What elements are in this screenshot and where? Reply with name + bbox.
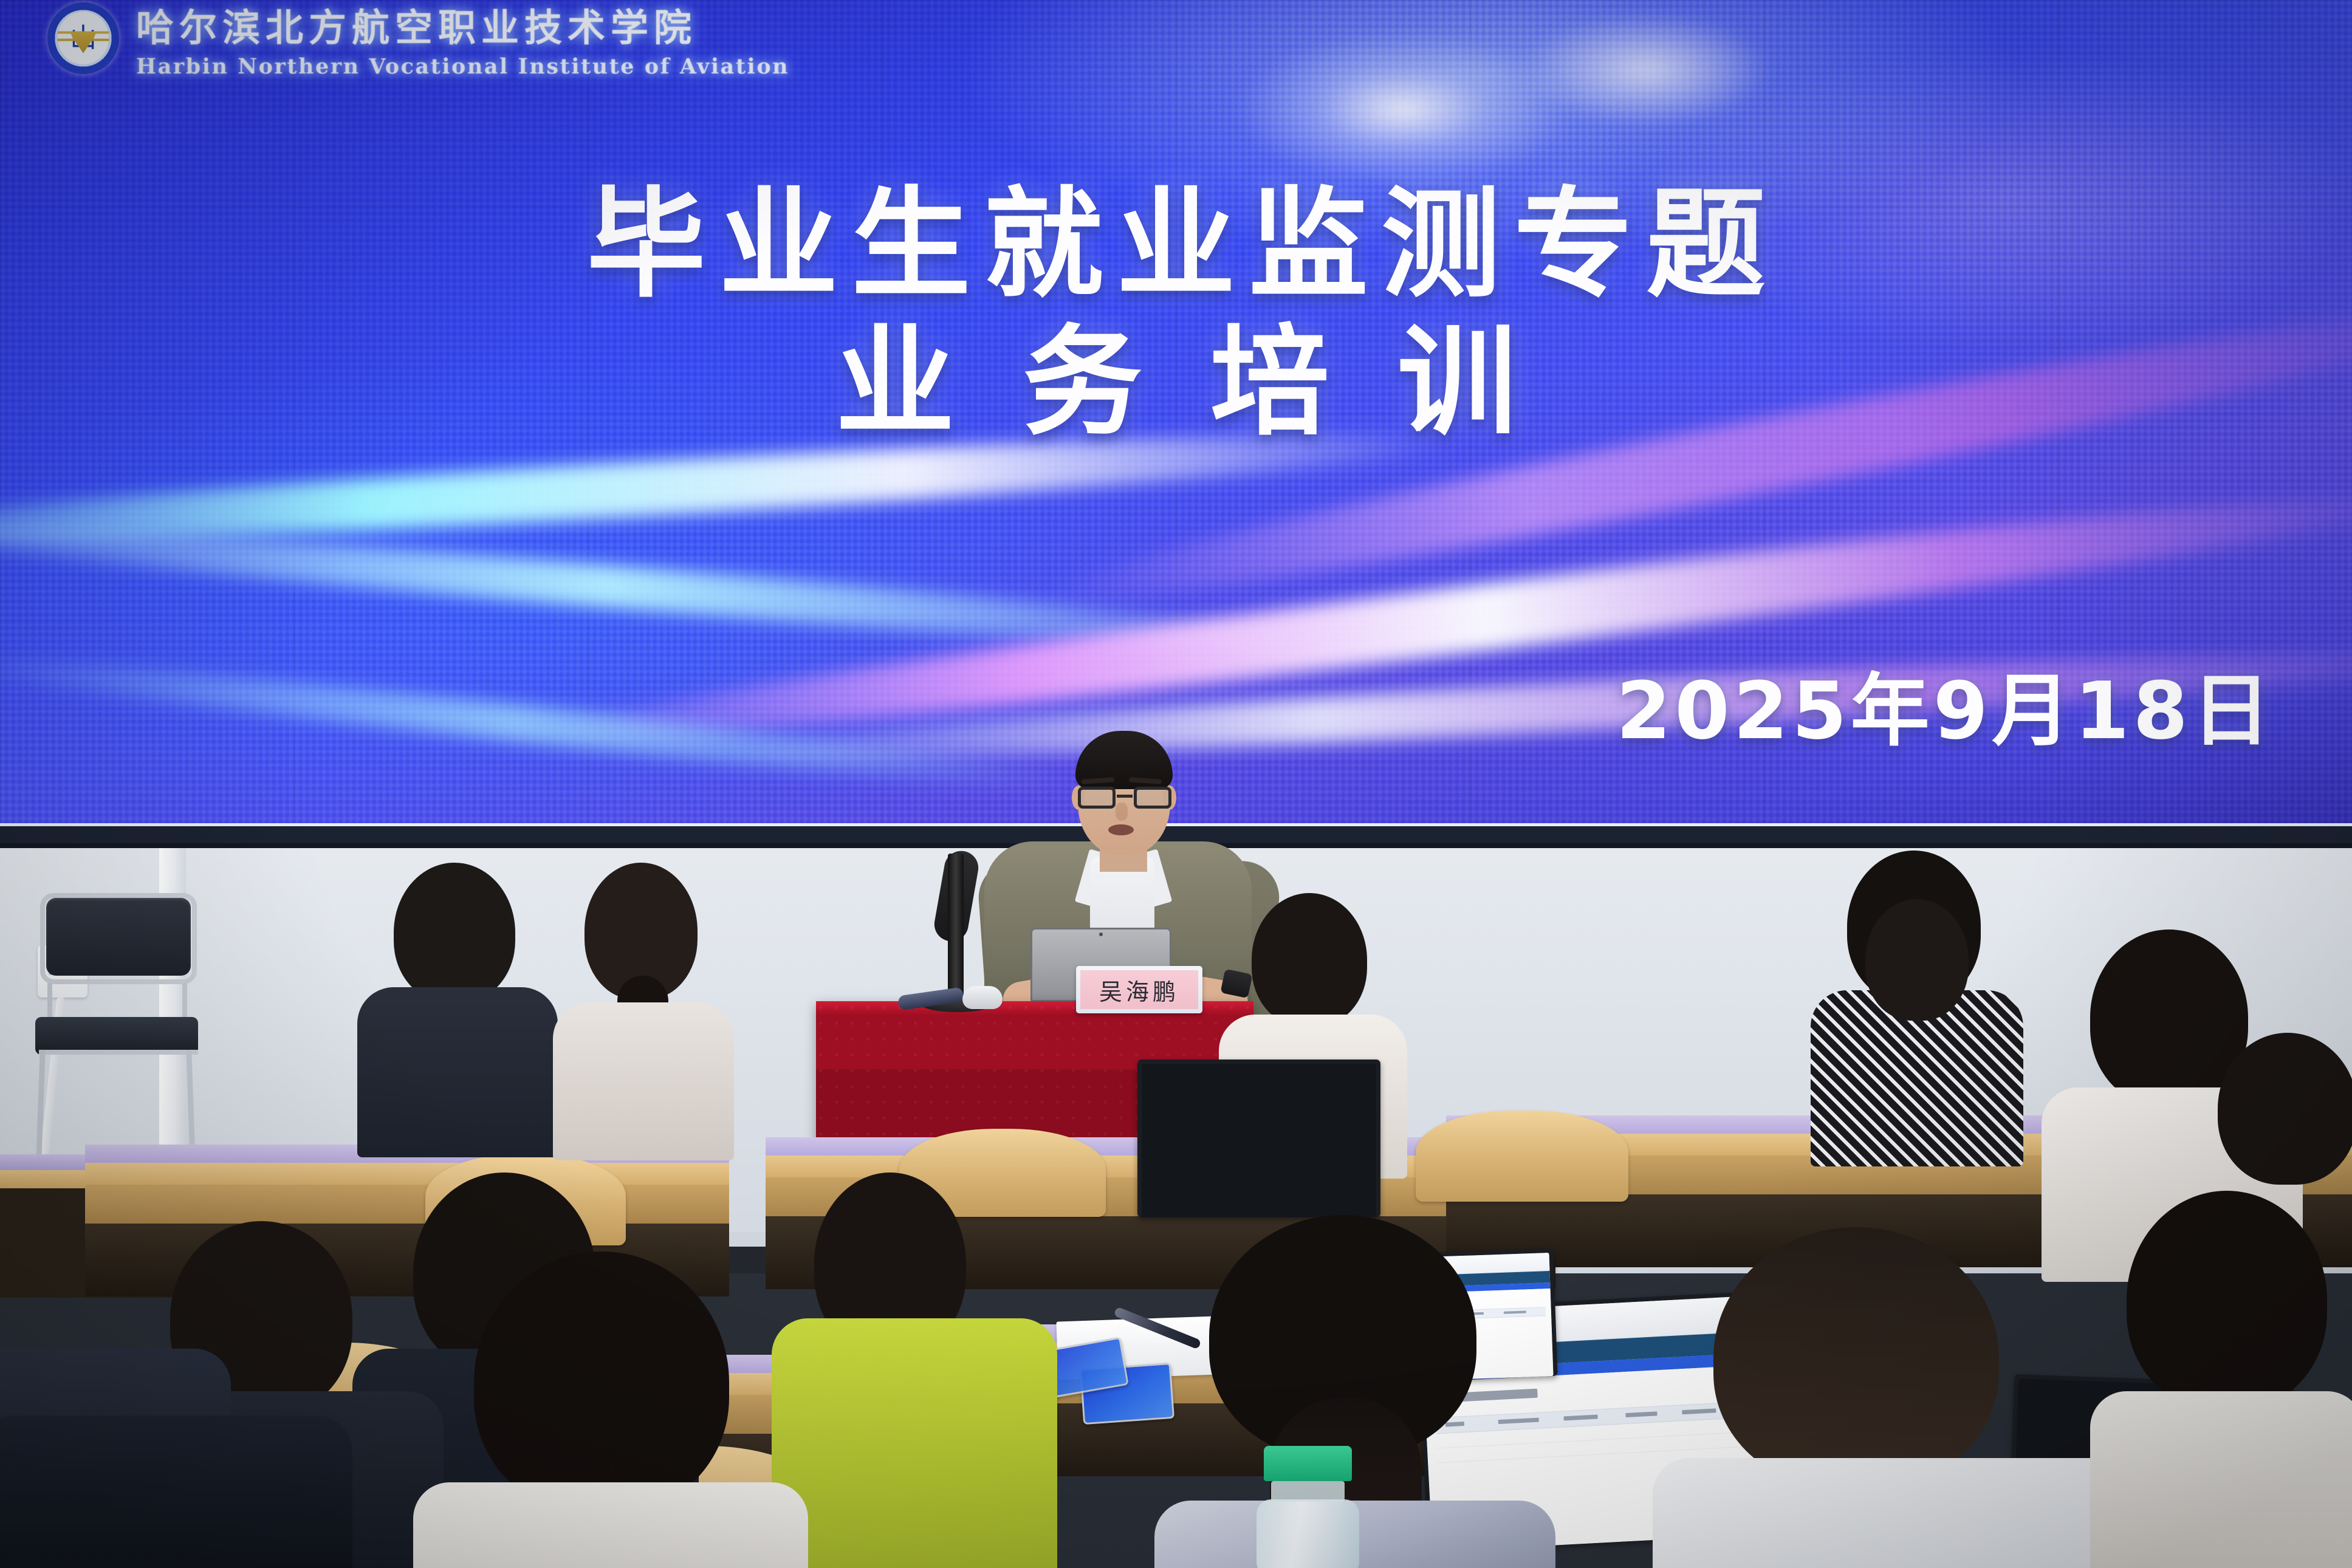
- microphone-stand: [948, 854, 964, 1002]
- glasses-lens-left: [1078, 787, 1116, 809]
- led-wall-display: 山 哈尔滨北方航空职业技术学院 Harbin Northern Vocation…: [0, 0, 2352, 826]
- audience-head: [1865, 899, 1969, 1021]
- audience-laptop-dark[interactable]: [1137, 1060, 1380, 1217]
- chair-backrest: [46, 898, 191, 976]
- audience-torso: [357, 987, 558, 1157]
- laptop-webcam: [1099, 933, 1103, 936]
- audience-member: [365, 863, 547, 1148]
- audience-member: [559, 863, 723, 1148]
- banner-header: 山 哈尔滨北方航空职业技术学院 Harbin Northern Vocation…: [0, 0, 2352, 76]
- bottle-cap: [1264, 1446, 1352, 1481]
- presenter-mouth: [1108, 824, 1134, 835]
- school-crest-logo: 山: [47, 2, 119, 74]
- audience-member: [1847, 899, 1993, 1154]
- audience-head: [1252, 893, 1367, 1027]
- bottle-body: [1257, 1499, 1359, 1568]
- audience-torso: [1653, 1458, 2151, 1568]
- audience-member-front-right: [1616, 1227, 2139, 1568]
- laptop-screen: [1142, 1064, 1376, 1217]
- glasses-lens-right: [1134, 787, 1171, 809]
- audience-torso-green: [772, 1318, 1057, 1568]
- audience-torso: [2090, 1391, 2352, 1568]
- banner-date: 2025年9月18日: [1616, 647, 2274, 761]
- water-bottle[interactable]: [1264, 1446, 1352, 1568]
- computer-mouse: [962, 986, 1003, 1009]
- bottle-neck: [1271, 1481, 1345, 1502]
- audience-head: [2218, 1033, 2352, 1185]
- school-name-english: Harbin Northern Vocational Institute of …: [136, 54, 789, 79]
- audience-member-far-right: [2102, 1191, 2352, 1567]
- lecture-chair-back: [1416, 1111, 1628, 1202]
- audience-torso: [413, 1482, 808, 1568]
- audience-torso: [553, 1002, 734, 1160]
- nameplate-paper: 吴海鹏: [1080, 970, 1198, 1009]
- presenter-nose: [1116, 803, 1128, 821]
- audience-member-front: [401, 1251, 814, 1568]
- chair-seat: [35, 1017, 198, 1055]
- audience-head: [394, 863, 515, 1002]
- audience-head: [2127, 1191, 2327, 1409]
- nameplate-text: 吴海鹏: [1099, 973, 1179, 1007]
- audience-head: [1713, 1227, 1999, 1488]
- school-name-chinese: 哈尔滨北方航空职业技术学院: [136, 0, 789, 52]
- presenter-nameplate: 吴海鹏: [1076, 966, 1202, 1013]
- glasses-bridge: [1117, 795, 1133, 798]
- photo-scene: 山 哈尔滨北方航空职业技术学院 Harbin Northern Vocation…: [0, 0, 2352, 1568]
- audience-head: [474, 1251, 729, 1513]
- school-name-block: 哈尔滨北方航空职业技术学院 Harbin Northern Vocational…: [136, 0, 789, 79]
- audience-member-foreground-left: [0, 1416, 352, 1568]
- audience-torso: [0, 1416, 352, 1568]
- chair-rail: [39, 1050, 198, 1055]
